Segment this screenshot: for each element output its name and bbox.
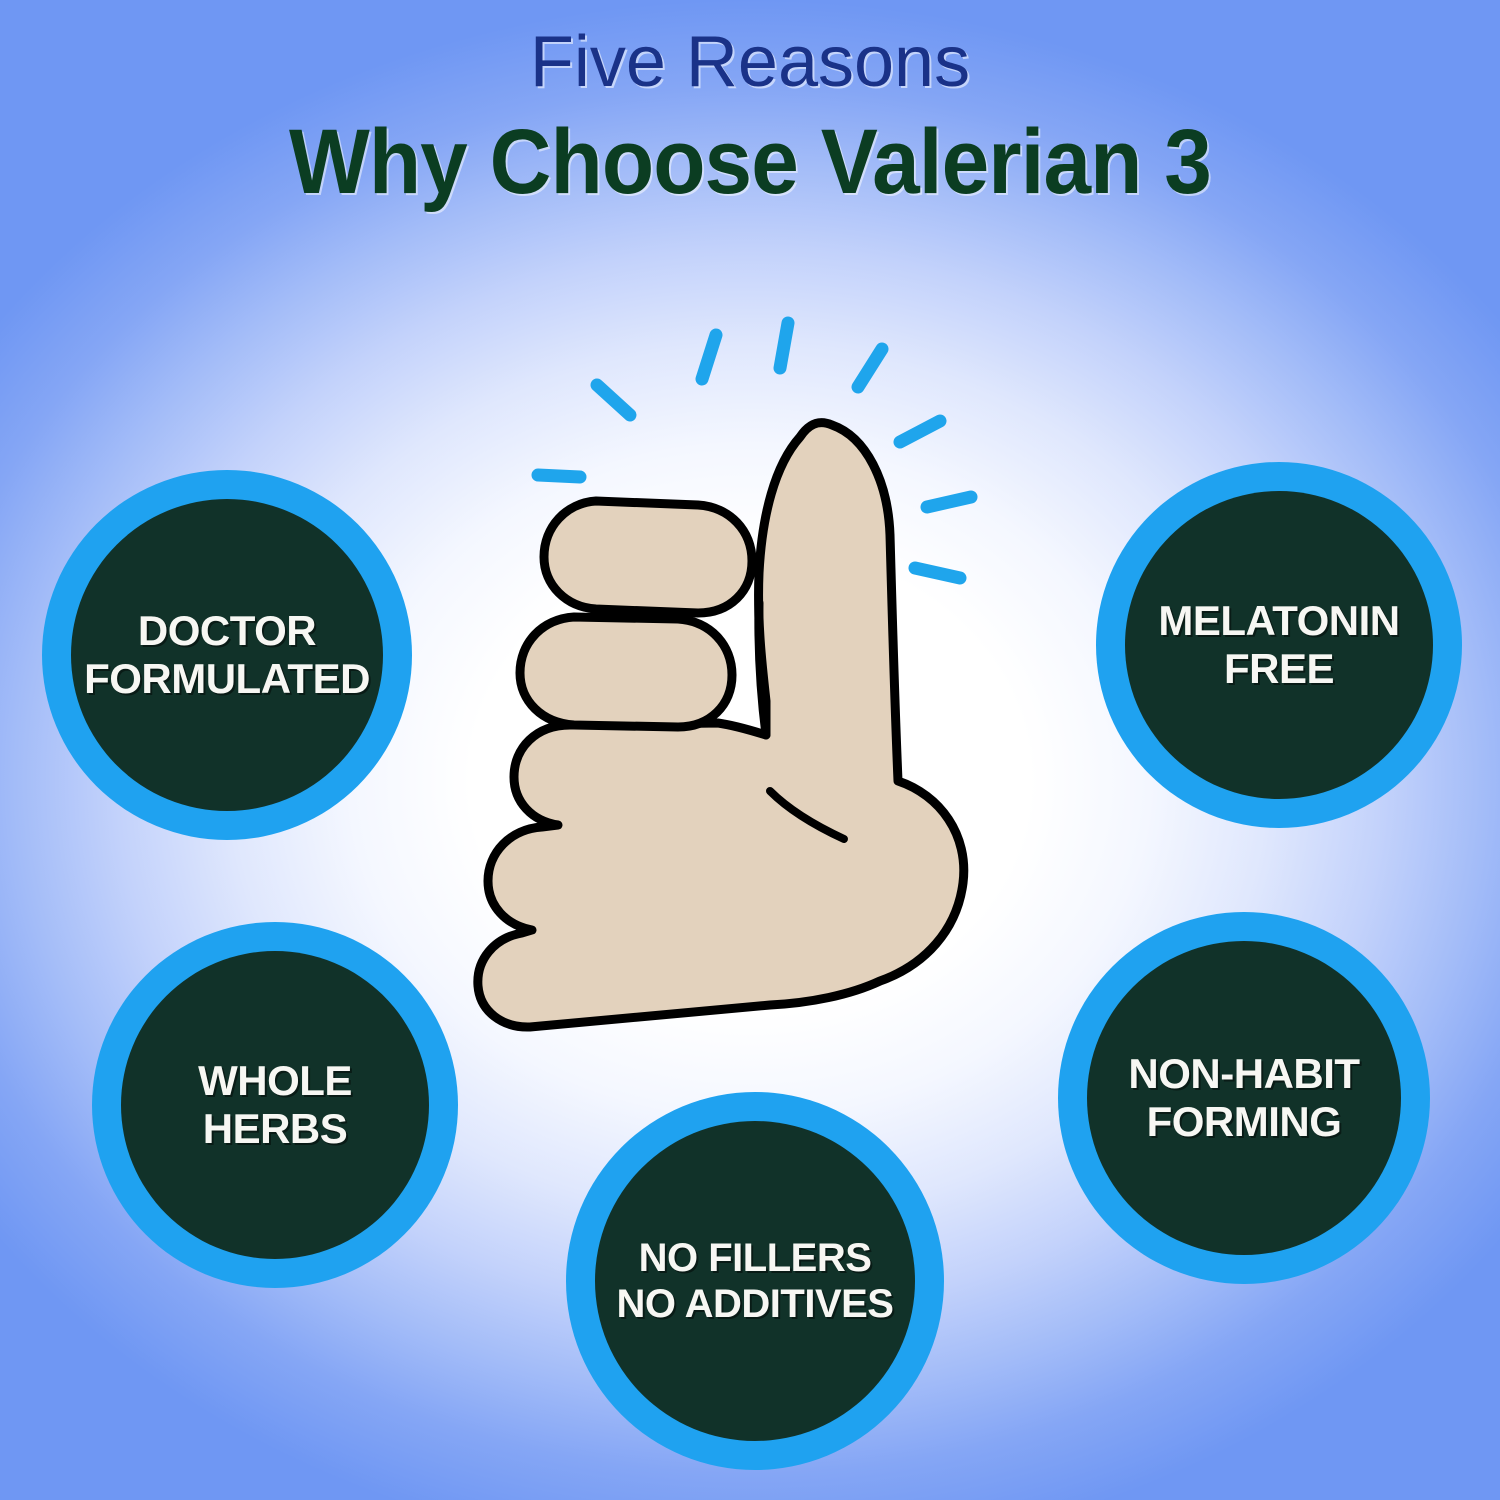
badge-inner: NO FILLERS NO ADDITIVES [595,1121,915,1441]
badge-whole-herbs[interactable]: WHOLE HERBS [92,922,458,1288]
badge-inner: DOCTOR FORMULATED [71,499,383,811]
badge-label: NON-HABIT FORMING [1128,1050,1359,1146]
badge-label: MELATONIN FREE [1158,597,1399,693]
page-title: Why Choose Valerian 3 [53,104,1448,212]
eyebrow-text: Five Reasons [0,0,1500,104]
badge-no-fillers-no-additives[interactable]: NO FILLERS NO ADDITIVES [566,1092,944,1470]
badge-label: WHOLE HERBS [198,1057,352,1153]
badge-inner: WHOLE HERBS [121,951,429,1259]
badge-inner: NON-HABIT FORMING [1087,941,1401,1255]
infographic-poster: Five Reasons Why Choose Valerian 3 [0,0,1500,1500]
badge-non-habit-forming[interactable]: NON-HABIT FORMING [1058,912,1430,1284]
thumbs-up-illustration [470,305,1030,1045]
heading-block: Five Reasons Why Choose Valerian 3 [0,0,1500,212]
badge-doctor-formulated[interactable]: DOCTOR FORMULATED [42,470,412,840]
hand-shape [478,423,964,1027]
badge-melatonin-free[interactable]: MELATONIN FREE [1096,462,1462,828]
badge-label: DOCTOR FORMULATED [84,607,370,703]
badge-inner: MELATONIN FREE [1125,491,1433,799]
badge-label: NO FILLERS NO ADDITIVES [617,1235,894,1327]
